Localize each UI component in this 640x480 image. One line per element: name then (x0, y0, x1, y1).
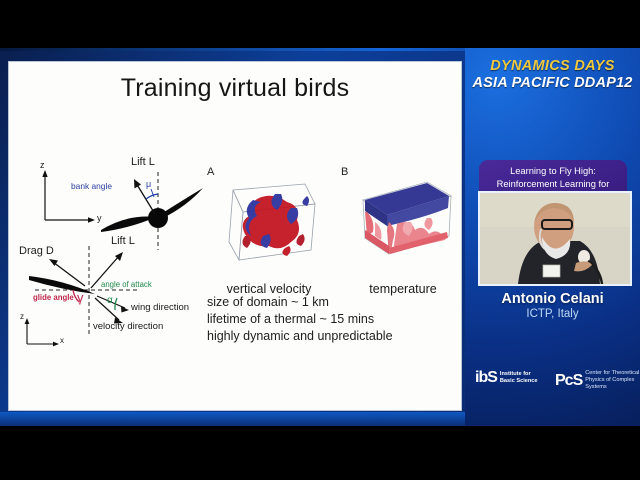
ibs-logo-mark: ibS (475, 370, 497, 386)
presentation-slide: Training virtual birds (9, 62, 461, 410)
axis-label-z-bottom: z (20, 312, 24, 321)
axis-label-y-top: y (97, 213, 102, 223)
wing-direction-label: wing direction (131, 302, 189, 313)
velocity-direction-label: velocity direction (93, 321, 163, 332)
talk-title-line: Learning to Fly High: (483, 165, 623, 178)
vertical-velocity-volume-render (219, 178, 323, 266)
glide-angle-diagram: Drag D Lift L glide angle γ angle of att… (11, 232, 207, 362)
conference-title-line1: DYNAMICS DAYS (465, 58, 640, 75)
speaker-info: Antonio Celani ICTP, Italy (465, 291, 640, 320)
bank-angle-symbol: μ (146, 179, 151, 189)
angle-of-attack-label: angle of attack (101, 280, 152, 289)
drag-label: Drag D (19, 245, 54, 257)
conference-title: DYNAMICS DAYS ASIA PACIFIC DDAP12 (465, 58, 640, 92)
panel-b-temperature: B (339, 166, 467, 296)
letterbox-top (0, 0, 640, 48)
page-title: Training virtual birds (9, 74, 461, 103)
speaker-portrait (480, 193, 630, 284)
letterbox-bottom (0, 426, 640, 480)
logo-pcs: PcS Center for Theoretical Physics of Co… (555, 370, 640, 391)
conference-sidebar: DYNAMICS DAYS ASIA PACIFIC DDAP12 Learni… (465, 48, 640, 426)
panel-a-letter: A (207, 166, 214, 178)
panel-b-letter: B (341, 166, 348, 178)
speaker-name: Antonio Celani (465, 291, 640, 307)
bank-angle-label: bank angle (71, 181, 112, 191)
logo-ibs: ibS Institute for Basic Science (475, 370, 538, 386)
pcs-logo-line2: Physics of Complex Systems (585, 377, 640, 391)
fact-line: size of domain ~ 1 km (207, 294, 393, 311)
fact-line: lifetime of a thermal ~ 15 mins (207, 311, 393, 328)
conference-title-line2: ASIA PACIFIC DDAP12 (465, 75, 640, 92)
glide-angle-symbol: γ (77, 290, 84, 305)
talk-title-line: Reinforcement Learning for (483, 178, 623, 191)
pcs-logo-mark: PcS (555, 373, 582, 389)
ibs-logo-line1: Institute for (500, 371, 538, 378)
glide-angle-label: glide angle (33, 293, 74, 302)
facts-list: size of domain ~ 1 km lifetime of a ther… (207, 294, 393, 345)
pcs-logo-line1: Center for Theoretical (585, 370, 640, 377)
ibs-logo-line2: Basic Science (500, 378, 538, 385)
axis-label-z-top: z (40, 160, 45, 170)
lift-label-bottom: Lift L (111, 235, 135, 247)
pcs-logo-text: Center for Theoretical Physics of Comple… (585, 370, 640, 391)
temperature-volume-render (353, 178, 457, 266)
speaker-affiliation: ICTP, Italy (465, 308, 640, 320)
axis-label-x-bottom: x (60, 336, 64, 345)
lift-label-top: Lift L (131, 156, 155, 168)
angle-of-attack-symbol: α (107, 295, 113, 306)
speaker-video-feed[interactable] (478, 191, 632, 286)
video-player-stage: Training virtual birds (0, 0, 640, 480)
sponsor-logos: ibS Institute for Basic Science PcS Cent… (465, 370, 640, 404)
panel-a-vertical-velocity: A (205, 166, 333, 296)
fact-line: highly dynamic and unpredictable (207, 328, 393, 345)
ibs-logo-text: Institute for Basic Science (500, 371, 538, 385)
